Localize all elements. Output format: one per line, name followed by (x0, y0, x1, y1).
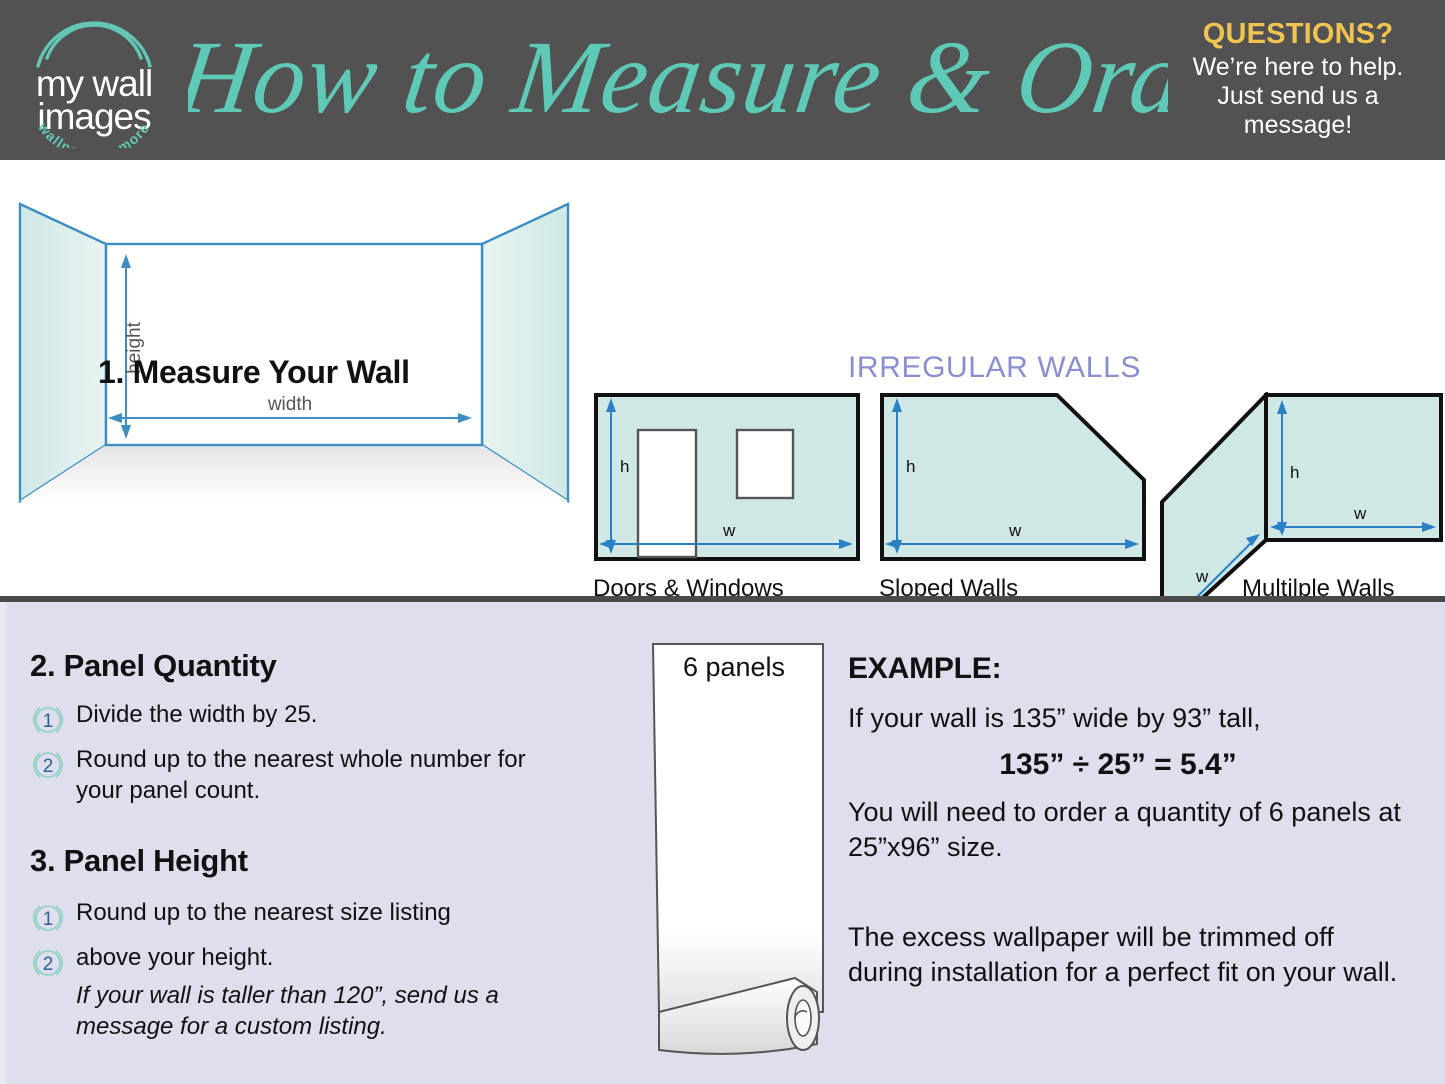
svg-text:2: 2 (43, 756, 54, 777)
door-shape (638, 430, 696, 557)
step-quantity-2-text: Round up to the nearest whole number for… (76, 745, 550, 806)
step-height-2-text: above your height. (76, 943, 273, 974)
header-bar: my wall images wallpaper + more How to M… (0, 0, 1445, 160)
window-shape (737, 430, 793, 498)
infographic-page: my wall images wallpaper + more How to M… (0, 0, 1445, 1084)
step-badge-4-icon: 2 (30, 945, 66, 981)
questions-body: We’re here to help. Just send us a messa… (1167, 53, 1429, 140)
section3-heading: 3. Panel Height (30, 843, 248, 879)
svg-text:w: w (1353, 504, 1367, 523)
floor (20, 445, 568, 501)
step-quantity-1: 1 Divide the width by 25. (30, 700, 550, 738)
diagram-sloped-wall: h w (879, 392, 1147, 562)
diagram-doors-windows: h w (593, 392, 861, 562)
svg-text:1: 1 (43, 909, 54, 930)
step-badge-2-icon: 2 (30, 747, 66, 783)
irregular-walls-title: IRREGULAR WALLS (848, 351, 1141, 385)
roll-panel-count-label: 6 panels (645, 652, 823, 683)
svg-text:w: w (1195, 567, 1209, 586)
panel-height-note: If your wall is taller than 120”, send u… (76, 980, 546, 1042)
svg-text:w: w (722, 521, 736, 540)
section2-heading: 2. Panel Quantity (30, 648, 276, 684)
step-quantity-2: 2 Round up to the nearest whole number f… (30, 745, 550, 806)
step-height-2: 2 above your height. (30, 943, 560, 981)
example-line-3: The excess wallpaper will be trimmed off… (848, 920, 1408, 989)
section-measure-your-wall: height width 1. Measure Your Wall Measur… (0, 160, 1445, 600)
svg-text:h: h (1290, 463, 1299, 482)
step-badge-1-icon: 1 (30, 702, 66, 738)
questions-heading: QUESTIONS? (1167, 18, 1429, 52)
example-line-1: If your wall is 135” wide by 93” tall, (848, 703, 1418, 734)
width-label: width (267, 394, 312, 415)
section1-heading: 1. Measure Your Wall (98, 354, 410, 391)
svg-text:h: h (620, 457, 629, 476)
step-height-1: 1 Round up to the nearest size listing (30, 898, 560, 936)
page-title: How to Measure & Order (188, 8, 1168, 148)
step-quantity-1-text: Divide the width by 25. (76, 700, 317, 731)
svg-text:w: w (1008, 521, 1022, 540)
logo-arcs (38, 23, 150, 66)
step-badge-3-icon: 1 (30, 900, 66, 936)
example-line-2: You will need to order a quantity of 6 p… (848, 795, 1428, 864)
svg-text:How to Measure & Order: How to Measure & Order (188, 19, 1168, 134)
roll-sheet (653, 644, 823, 1012)
step-height-1-text: Round up to the nearest size listing (76, 898, 451, 929)
example-calculation: 135” ÷ 25” = 5.4” (848, 748, 1388, 782)
svg-text:1: 1 (43, 711, 54, 732)
example-heading: EXAMPLE: (848, 652, 1001, 686)
svg-text:2: 2 (43, 954, 54, 975)
svg-text:h: h (906, 457, 915, 476)
wallpaper-roll-illustration (645, 640, 845, 1070)
brand-logo: my wall images wallpaper + more (14, 16, 174, 148)
questions-block: QUESTIONS? We’re here to help. Just send… (1167, 18, 1429, 140)
